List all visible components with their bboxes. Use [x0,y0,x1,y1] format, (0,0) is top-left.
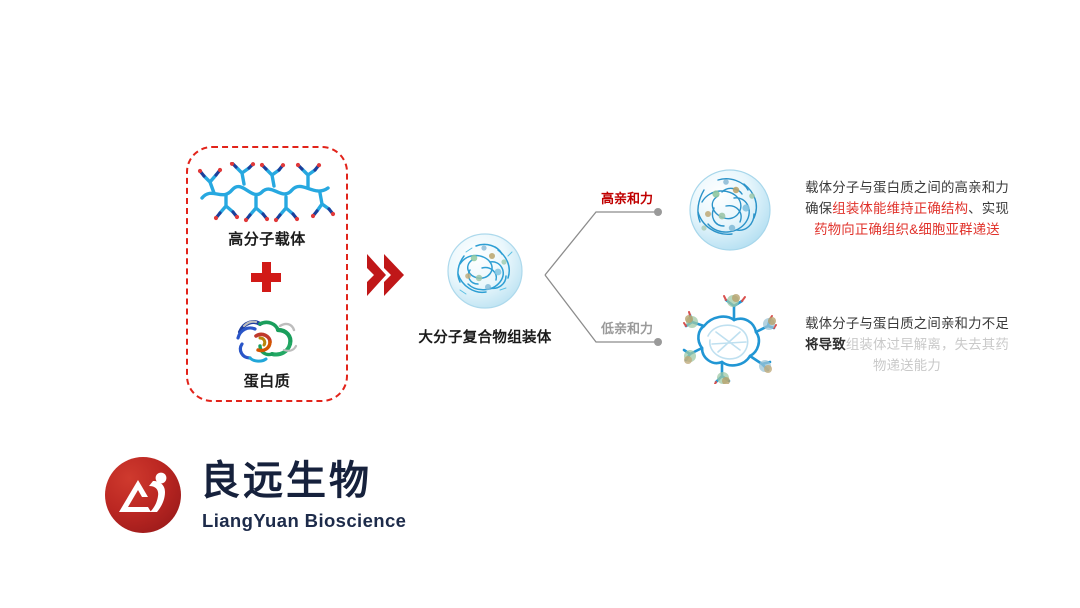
dissociated-complex-icon [682,292,778,384]
text-segment: 载体分子与蛋白质之间亲和力不足 [805,316,1009,331]
text-segment: 载体分子与蛋白质之间的高亲和力 [805,180,1009,195]
carrier-label: 高分子载体 [186,228,348,249]
logo-company-name-cn: 良远生物 [200,458,372,504]
branch-label-high-affinity: 高亲和力 [601,188,653,207]
intact-complex-sphere-icon [688,168,772,252]
description-line: 物递送能力 [796,355,1018,376]
text-segment-highlight: 组装体能维持正确结构 [832,201,968,216]
high-affinity-description: 载体分子与蛋白质之间的高亲和力 确保组装体能维持正确结构、实现 药物向正确组织&… [796,177,1018,240]
text-segment: 将导致 [805,337,846,352]
protein-ribbon-icon [230,312,306,368]
assembled-complex-sphere-icon [446,232,524,310]
text-segment-highlight: 药物向正确组织&细胞亚群递送 [814,222,1000,237]
description-line: 确保组装体能维持正确结构、实现 [796,198,1018,219]
description-line: 药物向正确组织&细胞亚群递送 [796,219,1018,240]
red-plus-icon [251,262,281,292]
description-line: 载体分子与蛋白质之间亲和力不足 [796,313,1018,334]
liangyuan-a-mark-icon [104,456,182,534]
branched-polymer-icon [196,162,338,224]
description-line: 载体分子与蛋白质之间的高亲和力 [796,177,1018,198]
text-segment: 确保 [805,201,832,216]
text-segment-muted: 物递送能力 [873,358,941,373]
description-line: 将导致组装体过早解离，失去其药 [796,334,1018,355]
low-affinity-description: 载体分子与蛋白质之间亲和力不足 将导致组装体过早解离，失去其药 物递送能力 [796,313,1018,376]
slide-canvas: 高分子载体 蛋白质 [0,0,1080,608]
protein-label: 蛋白质 [186,370,348,391]
text-segment: 、实现 [968,201,1009,216]
company-logo: 良远生物 LiangYuan Bioscience [104,456,404,542]
double-chevron-right-icon [366,252,410,298]
text-segment-muted: 组装体过早解离，失去其药 [846,337,1009,352]
branch-label-low-affinity: 低亲和力 [601,318,653,337]
logo-company-name-en: LiangYuan Bioscience [202,510,406,532]
